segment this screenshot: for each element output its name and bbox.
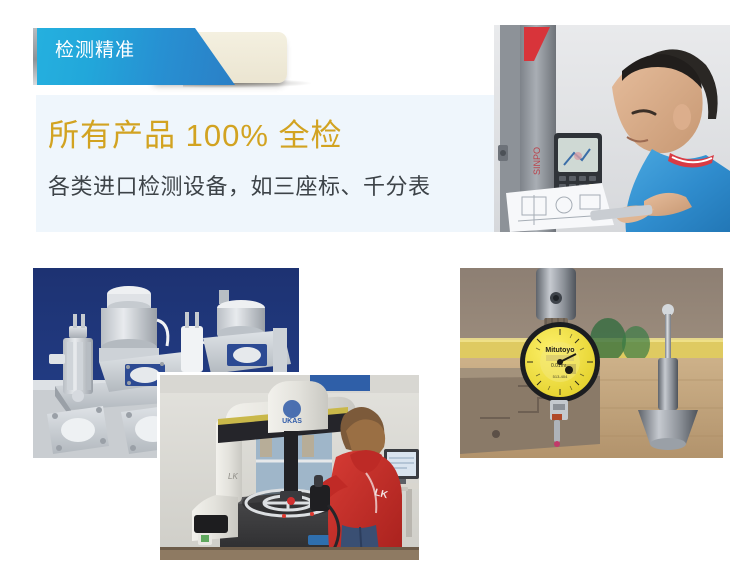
photo-mitutoyo-dial-indicator: Mitutoyo 0.01mm 513-404 xyxy=(460,268,723,458)
svg-text:Mitutoyo: Mitutoyo xyxy=(545,347,574,354)
headline-panel xyxy=(36,95,494,232)
promo-banner-page: 检测精准 所有产品 100% 全检 各类进口检测设备，如三座标、千分表 xyxy=(0,0,748,585)
ribbon-left-edge-bar xyxy=(33,28,37,85)
section-ribbon-tab: 检测精准 xyxy=(33,28,333,88)
headline-text: 所有产品 100% 全检 xyxy=(48,120,343,151)
svg-text:LK: LK xyxy=(228,472,238,481)
ribbon-label: 检测精准 xyxy=(55,41,135,60)
svg-text:513-404: 513-404 xyxy=(553,374,568,379)
photo-coordinate-measuring-machine: UKAS LK LK xyxy=(160,375,419,560)
svg-text:SINPO: SINPO xyxy=(532,147,542,175)
svg-text:UKAS: UKAS xyxy=(282,418,302,425)
subheadline-text: 各类进口检测设备，如三座标、千分表 xyxy=(48,176,431,198)
photo-inspector-reading-drawing: SINPO xyxy=(494,25,730,232)
